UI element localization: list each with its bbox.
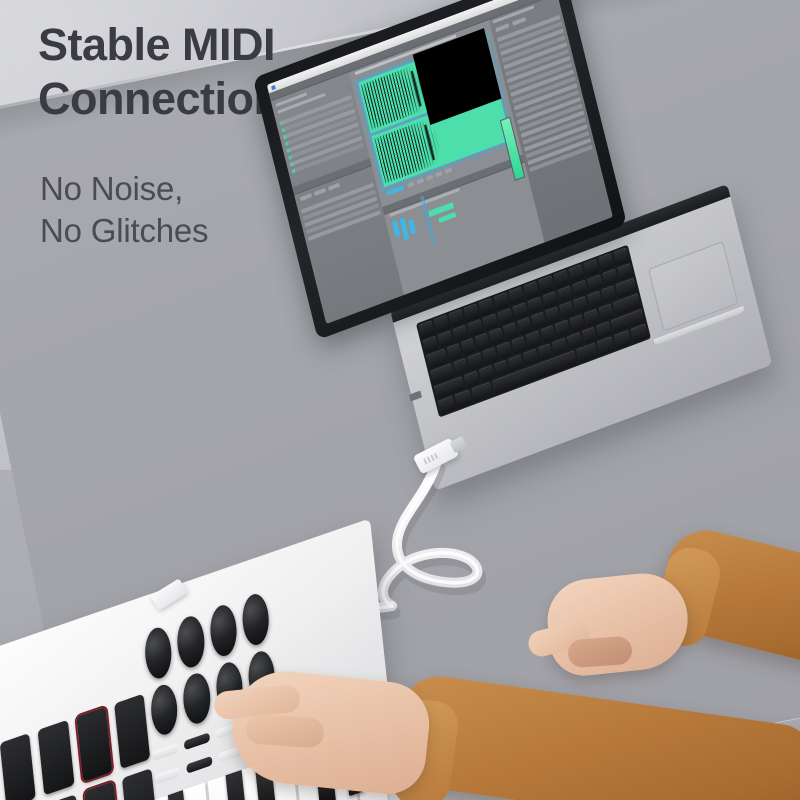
control-button[interactable] bbox=[151, 743, 177, 761]
knob[interactable] bbox=[143, 624, 174, 682]
knob[interactable] bbox=[208, 601, 239, 659]
knob[interactable] bbox=[149, 680, 180, 738]
drum-pad[interactable] bbox=[0, 733, 36, 800]
left-thumb bbox=[245, 713, 325, 748]
right-thumb bbox=[567, 636, 633, 668]
knob[interactable] bbox=[240, 590, 271, 648]
knob[interactable] bbox=[181, 669, 212, 727]
usb-icon bbox=[423, 452, 440, 465]
drum-pad-lit[interactable] bbox=[84, 781, 120, 800]
product-scene: Stable MIDI Connection No Noise, No Glit… bbox=[0, 0, 800, 800]
control-button[interactable] bbox=[183, 732, 209, 750]
drum-pad-lit[interactable] bbox=[76, 707, 112, 782]
drum-pad[interactable] bbox=[46, 794, 82, 800]
knob[interactable] bbox=[175, 612, 206, 670]
drum-pad[interactable] bbox=[38, 720, 74, 795]
